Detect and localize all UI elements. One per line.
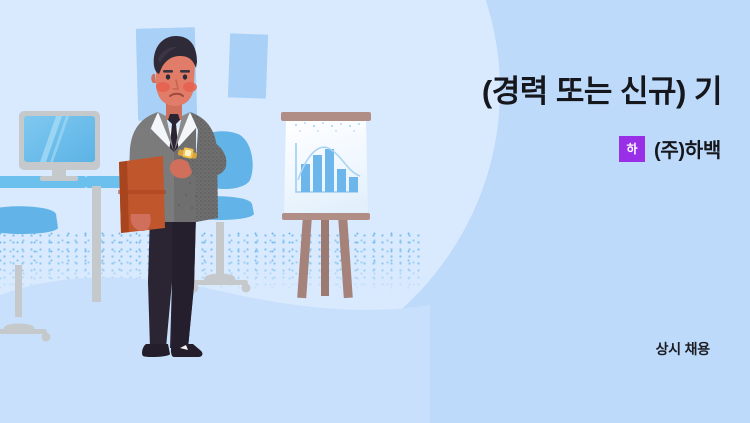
- job-posting-banner: (경력 또는 신규) 기 하 (주)하백 상시 채용: [0, 0, 750, 423]
- company-logo-badge: 하: [619, 136, 645, 162]
- desk-monitor: [19, 111, 100, 181]
- hiring-type-label: 상시 채용: [656, 339, 710, 359]
- office-chair-left: [0, 206, 58, 341]
- flipchart-easel: [281, 112, 371, 298]
- wall-poster-right: [228, 33, 268, 98]
- page-title: (경력 또는 신규) 기: [322, 74, 722, 110]
- company-row[interactable]: 하 (주)하백: [619, 134, 721, 163]
- briefcase: [118, 156, 166, 233]
- office-illustration: [0, 0, 420, 423]
- company-name: (주)하백: [654, 134, 721, 163]
